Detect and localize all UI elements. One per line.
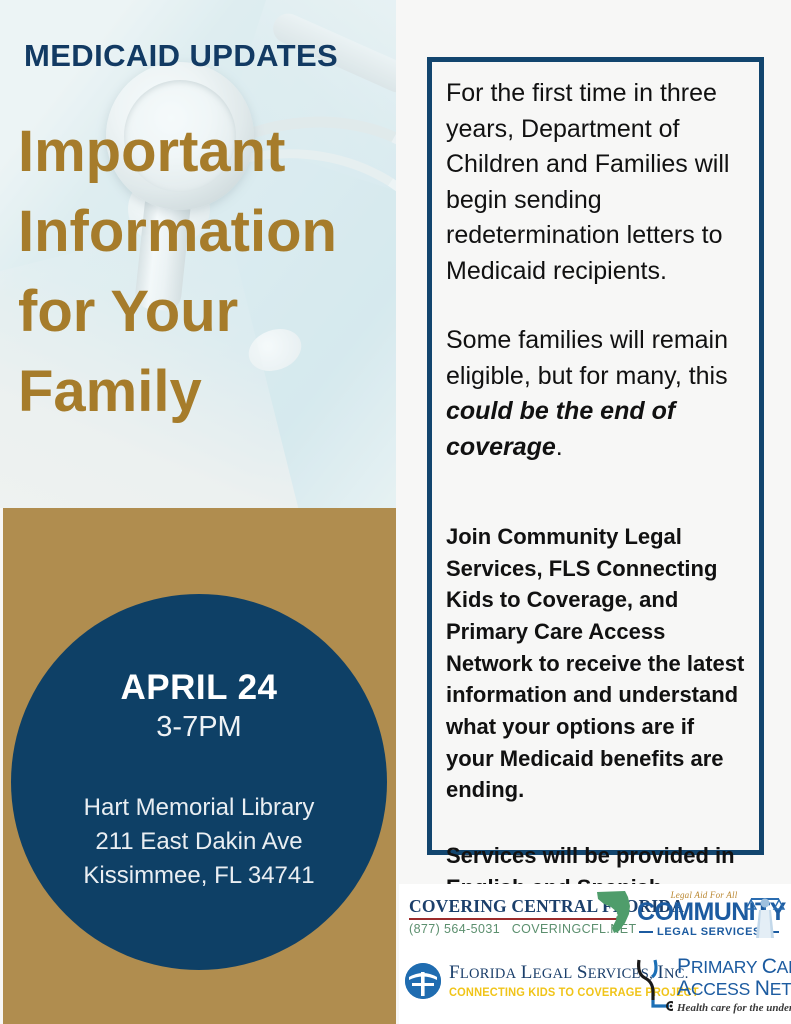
ccf-divider bbox=[409, 918, 617, 920]
info-paragraph-2-lead: Some families will remain eligible, but … bbox=[446, 326, 728, 390]
info-paragraph-3: Join Community Legal Services, FLS Conne… bbox=[446, 521, 745, 806]
logo-covering-central-florida: COVERING CENTRAL FLORIDA (877) 564-5031 … bbox=[409, 896, 631, 936]
event-street: 211 East Dakin Ave bbox=[83, 825, 314, 859]
scales-of-justice-icon bbox=[743, 892, 787, 942]
event-date: APRIL 24 bbox=[120, 668, 277, 707]
paragraph-spacer-1 bbox=[446, 289, 745, 323]
cls-dash-left bbox=[639, 931, 653, 933]
information-box: For the first time in three years, Depar… bbox=[427, 57, 764, 855]
pcan-text-block: PRIMARY CARE ACCESS NETWORK Health care … bbox=[677, 956, 791, 1014]
logo-primary-care-access-network: PRIMARY CARE ACCESS NETWORK Health care … bbox=[633, 956, 789, 1014]
ccf-phone: (877) 564-5031 bbox=[409, 922, 500, 936]
page-title: Important Information for Your Family bbox=[18, 112, 394, 432]
partner-logo-bar: COVERING CENTRAL FLORIDA (877) 564-5031 … bbox=[399, 884, 791, 1024]
logo-florida-legal-services: FLORIDA LEGAL SERVICES, INC. CONNECTING … bbox=[405, 962, 635, 999]
info-paragraph-1: For the first time in three years, Depar… bbox=[446, 76, 745, 289]
event-city-state-zip: Kissimmee, FL 34741 bbox=[83, 859, 314, 893]
info-paragraph-2: Some families will remain eligible, but … bbox=[446, 323, 745, 465]
pcan-tagline: Health care for the underinsured bbox=[677, 1002, 791, 1014]
kicker-heading: MEDICAID UPDATES bbox=[24, 38, 338, 74]
fls-badge-glyph-icon bbox=[405, 963, 441, 999]
pcan-line-1: PRIMARY CARE bbox=[677, 956, 791, 978]
fls-circle-badge-icon bbox=[405, 963, 441, 999]
info-paragraph-2-tail: . bbox=[556, 433, 563, 461]
event-details-circle: APRIL 24 3-7PM Hart Memorial Library 211… bbox=[11, 594, 387, 970]
logo-community-legal-services: Legal Aid For All COMMUNITY LEGAL SERVIC… bbox=[641, 890, 783, 938]
event-address: Hart Memorial Library 211 East Dakin Ave… bbox=[83, 791, 314, 893]
paragraph-spacer-2 bbox=[446, 465, 745, 521]
pcan-line-2: ACCESS NETWORK bbox=[677, 978, 791, 1000]
event-venue: Hart Memorial Library bbox=[83, 791, 314, 825]
event-time: 3-7PM bbox=[156, 709, 241, 747]
paragraph-spacer-3 bbox=[446, 806, 745, 840]
stethoscope-icon bbox=[633, 956, 673, 1014]
gold-panel: APRIL 24 3-7PM Hart Memorial Library 211… bbox=[3, 508, 396, 1024]
flyer-page: MEDICAID UPDATES Important Information f… bbox=[0, 0, 791, 1024]
